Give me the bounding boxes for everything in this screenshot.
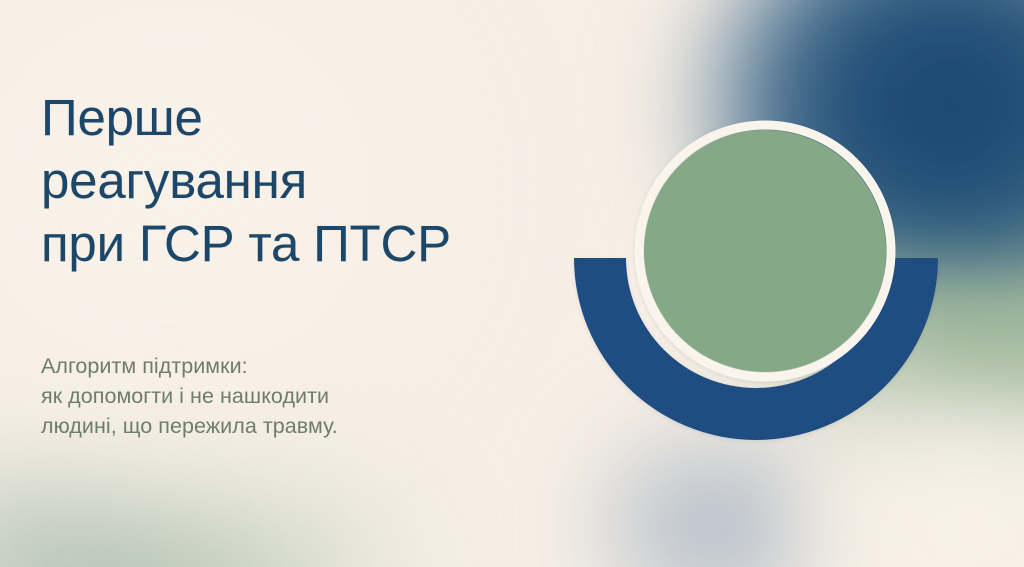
background-haze-bottom-left xyxy=(0,430,260,567)
page-title: Перше реагування при ГСР та ПТСР xyxy=(41,86,541,275)
slide-canvas: Перше реагування при ГСР та ПТСР Алгорит… xyxy=(0,0,1024,567)
logo-mark xyxy=(565,112,965,457)
text-block: Перше реагування при ГСР та ПТСР Алгорит… xyxy=(41,86,541,441)
page-subtitle: Алгоритм підтримки: як допомогти і не на… xyxy=(41,351,541,441)
logo-green-circle-shape xyxy=(644,130,886,372)
